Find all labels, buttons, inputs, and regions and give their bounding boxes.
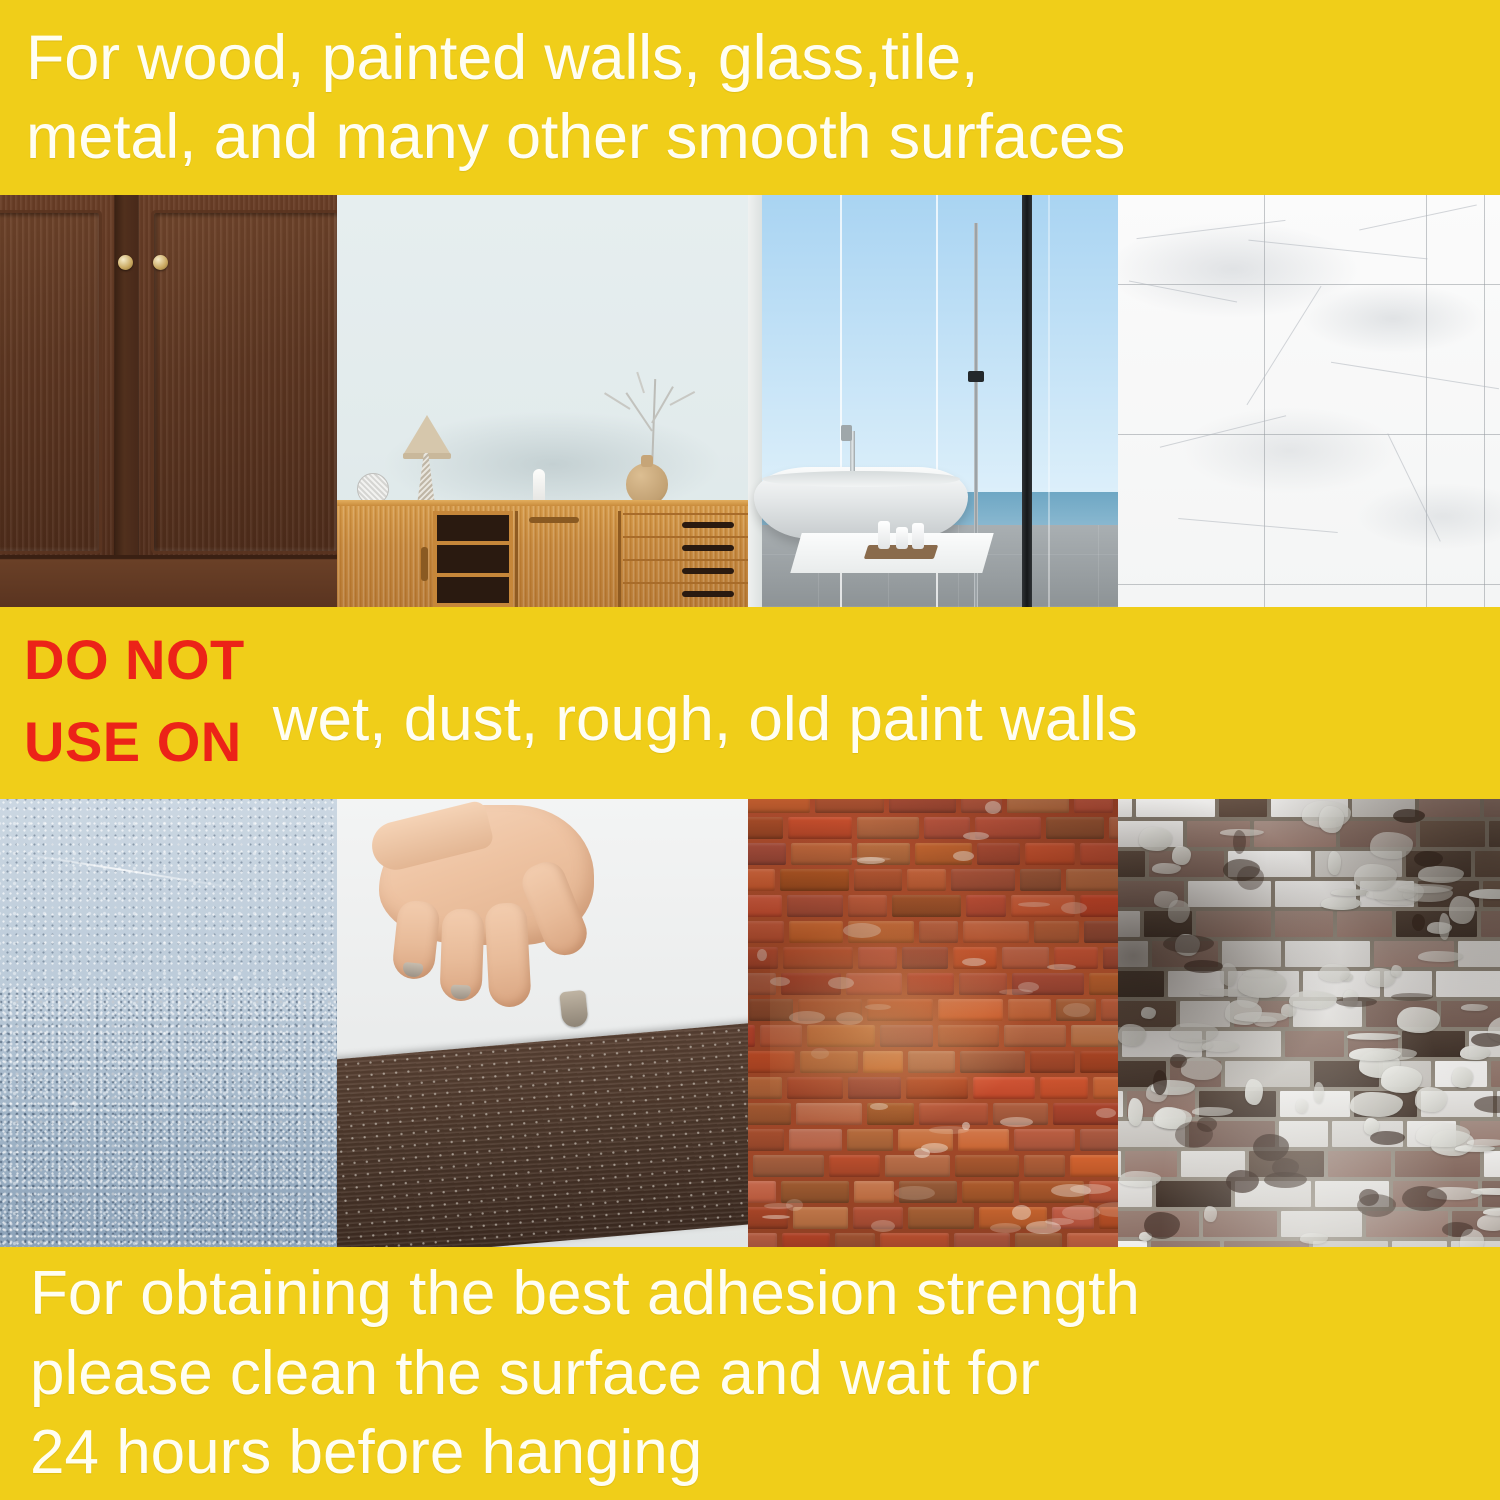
brick: [863, 1051, 903, 1073]
brick: [902, 947, 948, 969]
brick: [748, 799, 810, 813]
brick: [846, 973, 902, 995]
paint-peel-patch: [1477, 1215, 1500, 1231]
brick: [787, 895, 843, 917]
brick: [789, 1129, 842, 1151]
mortar-speck: [1000, 1117, 1033, 1127]
bottle-2: [896, 527, 908, 549]
brick: [793, 1207, 848, 1229]
brick: [1040, 1077, 1088, 1099]
brick: [1089, 973, 1118, 995]
bad-surfaces-strip: [0, 799, 1500, 1247]
brick: [1080, 843, 1118, 865]
brick: [954, 1233, 1010, 1247]
brick: [1030, 1051, 1075, 1073]
mortar-speck: [811, 1048, 829, 1059]
brick-row: [1118, 1151, 1500, 1181]
brick: [1020, 869, 1061, 891]
lamp-shade: [403, 415, 451, 455]
brick: [1395, 1151, 1480, 1177]
mortar-speck: [762, 1215, 790, 1219]
sideboard-drawer-2: [623, 536, 748, 560]
mortar-speck: [850, 857, 891, 861]
brick: [748, 1103, 791, 1125]
paint-peel-patch: [1449, 896, 1475, 924]
brick: [780, 869, 849, 891]
brick: [1481, 911, 1500, 937]
paint-peel-patch: [1397, 1007, 1440, 1033]
mortar-speck: [1012, 1205, 1031, 1220]
sideboard-handle-left: [421, 547, 428, 581]
brick: [919, 921, 958, 943]
brick: [1008, 999, 1051, 1021]
sideboard-shelf-1: [437, 541, 509, 545]
brick: [783, 947, 853, 969]
paint-peel-patch: [1300, 1233, 1328, 1244]
brick: [892, 895, 961, 917]
do-not-use-label: DO NOT USE ON: [18, 630, 245, 777]
paint-peel-patch: [1347, 1033, 1401, 1040]
brick: [1103, 947, 1118, 969]
paint-peel-patch: [1168, 900, 1190, 923]
paint-peel-patch: [1238, 970, 1286, 998]
brick: [753, 1155, 824, 1177]
brick: [1489, 821, 1500, 847]
paint-peel-patch: [1221, 963, 1237, 986]
brick: [1002, 947, 1049, 969]
paint-peel-patch: [1416, 1123, 1470, 1147]
brick: [748, 895, 782, 917]
paint-peel-patch: [1452, 1067, 1473, 1088]
brick: [788, 817, 852, 839]
paint-peel-patch: [1415, 1087, 1447, 1112]
glass-mullion-3: [1048, 195, 1050, 607]
brick-row: [748, 921, 1118, 947]
paint-peel-patch: [1118, 1024, 1146, 1046]
warning-banner: DO NOT USE ON wet, dust, rough, old pain…: [0, 607, 1500, 799]
mortar-speck: [757, 949, 767, 961]
brick: [1014, 1129, 1075, 1151]
brick: [789, 921, 843, 943]
brick: [1118, 971, 1164, 997]
paint-peel-patch: [1289, 991, 1337, 1009]
brick: [1275, 911, 1333, 937]
brick: [1156, 1181, 1231, 1207]
sideboard-drawer-1: [623, 513, 748, 537]
marble-vein-4: [1129, 281, 1237, 303]
side-wall: [748, 195, 762, 607]
brick: [748, 1051, 795, 1073]
brick: [1491, 1061, 1500, 1087]
rough-brick-photo: [748, 799, 1118, 1247]
sky-background: [748, 195, 1118, 492]
wooden-sideboard: [337, 505, 748, 607]
mortar-speck: [914, 1148, 930, 1158]
brick: [966, 895, 1006, 917]
mortar-speck: [953, 851, 974, 861]
mortar-speck: [865, 1004, 891, 1010]
painted-wall-photo: [337, 195, 748, 607]
brick: [958, 1129, 1009, 1151]
brick: [1118, 799, 1132, 817]
cabinet-door-right: [138, 195, 337, 575]
brick: [800, 1051, 858, 1073]
red-brick-rows: [748, 799, 1118, 1247]
brick: [951, 869, 1015, 891]
paint-peel-patch: [1128, 1098, 1143, 1126]
marble-vein-3: [1359, 205, 1477, 231]
brick: [748, 843, 786, 865]
brick: [908, 1207, 974, 1229]
brick: [796, 1103, 862, 1125]
paint-peel-patch: [1370, 832, 1413, 859]
brick: [963, 921, 1029, 943]
brick-row: [748, 1233, 1118, 1247]
brick: [1225, 1061, 1310, 1087]
water-droplets-layer-2: [0, 987, 337, 1247]
wood-cabinet-photo: [0, 195, 337, 607]
paint-peel-patch: [1467, 1139, 1500, 1146]
brick: [748, 869, 775, 891]
brick: [1080, 1129, 1118, 1151]
brick: [867, 999, 933, 1021]
brick: [977, 843, 1020, 865]
brick: [815, 799, 884, 813]
brick: [885, 1155, 950, 1177]
paint-peel-patch: [1460, 1046, 1490, 1060]
sideboard-drawer-4: [623, 582, 748, 606]
glass-door-handle: [968, 371, 984, 382]
brick: [962, 1181, 1014, 1203]
paint-peel-patch: [1418, 866, 1464, 883]
brick: [908, 1051, 955, 1073]
paint-peel-patch: [1119, 1171, 1161, 1187]
brick: [1118, 851, 1145, 877]
marble-vein-5: [1246, 286, 1321, 405]
brick: [1034, 921, 1079, 943]
brick: [1024, 1155, 1065, 1177]
brick: [1046, 817, 1104, 839]
brick: [835, 1233, 875, 1247]
brick: [906, 1077, 968, 1099]
mortar-speck: [963, 832, 989, 840]
fingernail-ring: [450, 985, 470, 1000]
faucet: [850, 431, 855, 471]
brick: [1015, 1233, 1062, 1247]
old-paint-brick-photo: [1118, 799, 1500, 1247]
mortar-speck: [962, 958, 986, 966]
brick-row: [748, 817, 1118, 843]
brick: [807, 1025, 875, 1047]
infographic-page: For wood, painted walls, glass,tile, met…: [0, 0, 1500, 1500]
brick-row: [748, 843, 1118, 869]
bottle-1: [878, 521, 890, 549]
brick-row: [748, 1077, 1118, 1103]
top-banner-line-2: metal, and many other smooth surfaces: [26, 99, 1478, 176]
paint-peel-patch: [1391, 965, 1402, 977]
brick: [960, 1051, 1025, 1073]
paint-peel-patch: [1455, 1145, 1495, 1152]
brick: [1118, 1091, 1123, 1117]
bathtub: [754, 467, 968, 539]
brick: [791, 843, 852, 865]
mortar-speck: [1018, 982, 1039, 992]
brick-row: [748, 1051, 1118, 1077]
window-post: [1022, 195, 1032, 607]
brick: [938, 1025, 999, 1047]
sideboard-divider-1: [515, 511, 518, 607]
mortar-speck: [789, 1011, 825, 1024]
brick: [854, 869, 902, 891]
paint-peel-patch: [1321, 897, 1361, 910]
dusty-fingertip: [559, 990, 589, 1029]
mortar-speck: [985, 801, 1001, 814]
paint-peel-patch: [1349, 1048, 1401, 1061]
cabinet-door-gap: [115, 195, 138, 575]
brick: [1025, 843, 1075, 865]
brick: [1004, 1025, 1066, 1047]
paint-peel-patch: [1296, 1099, 1308, 1113]
mortar-speck: [990, 1223, 1021, 1233]
brick-row: [748, 1025, 1118, 1051]
paint-peel-patch: [1170, 1023, 1218, 1042]
sideboard-top: [337, 500, 748, 506]
brick: [1475, 851, 1500, 877]
mortar-speck: [1061, 902, 1087, 914]
finger-ring: [439, 908, 484, 1001]
brick: [829, 1155, 880, 1177]
glass-bathroom-photo: [748, 195, 1118, 607]
marble-vein-6: [1331, 362, 1499, 390]
marble-vein-9: [1178, 518, 1337, 533]
finger-middle: [484, 902, 531, 1008]
brick-row: [748, 1103, 1118, 1129]
brick: [938, 999, 1003, 1021]
brick: [907, 869, 946, 891]
paint-peel-patch: [1331, 889, 1369, 896]
hand-graphic: [365, 805, 665, 1055]
paint-peel-patch: [1202, 1041, 1239, 1052]
brick: [1093, 1077, 1118, 1099]
top-banner: For wood, painted walls, glass,tile, met…: [0, 0, 1500, 195]
brick: [1109, 817, 1118, 839]
brick: [1328, 1151, 1391, 1177]
mortar-speck: [828, 977, 854, 989]
brick: [880, 1025, 933, 1047]
paint-peel-patch: [1381, 1066, 1422, 1093]
sideboard-handle-middle: [529, 517, 579, 523]
brick: [748, 1025, 755, 1047]
brick: [1458, 941, 1500, 967]
paint-peel-patch: [1245, 1079, 1263, 1105]
paint-peel-patch: [1192, 1107, 1233, 1116]
paint-peel-patch: [1234, 1012, 1288, 1022]
brick: [748, 921, 784, 943]
brick: [1118, 911, 1140, 937]
paint-peel-patch: [1181, 1057, 1222, 1080]
mortar-speck: [764, 1203, 793, 1209]
paint-peel-patch: [1439, 913, 1450, 940]
paint-peel-patch: [1354, 864, 1397, 890]
wet-surface-photo: [0, 799, 337, 1247]
brick-row: [748, 799, 1118, 817]
bottle-3: [912, 523, 924, 549]
brick-row: [748, 1155, 1118, 1181]
mortar-speck: [843, 923, 881, 938]
cabinet-door-left: [0, 195, 115, 575]
brick: [787, 1077, 843, 1099]
paint-peel-patch: [1418, 951, 1463, 962]
marble-vein-7: [1160, 415, 1286, 447]
brick: [1074, 799, 1113, 813]
brick: [782, 1233, 830, 1247]
bad-surfaces-text: wet, dust, rough, old paint walls: [273, 689, 1482, 751]
brick: [748, 1233, 777, 1247]
brick: [1066, 869, 1118, 891]
paint-peel-patch: [1141, 1007, 1156, 1019]
brick: [1084, 921, 1118, 943]
paint-peel-patch: [1350, 1092, 1403, 1117]
brick: [1196, 911, 1271, 937]
brick: [1007, 799, 1069, 813]
brick: [847, 1129, 893, 1151]
paint-peel-patch: [1314, 1082, 1324, 1103]
brick: [1219, 799, 1267, 817]
brick: [1136, 799, 1215, 817]
mortar-speck: [1018, 902, 1050, 907]
sideboard-open-shelves: [433, 511, 513, 607]
bottom-banner: For obtaining the best adhesion strength…: [0, 1247, 1500, 1500]
mortar-speck: [929, 1126, 969, 1134]
brick-row: [748, 973, 1118, 999]
brick: [1071, 1025, 1118, 1047]
finger-pinky: [391, 899, 441, 981]
brick: [1067, 1233, 1118, 1247]
brick: [973, 1077, 1035, 1099]
brick: [889, 799, 956, 813]
paint-peel-patch: [1319, 964, 1350, 982]
brick: [748, 817, 783, 839]
brick: [848, 1077, 901, 1099]
bottom-banner-line-3: 24 hours before hanging: [30, 1413, 1476, 1492]
warning-line-2: USE ON: [24, 712, 245, 772]
brick: [1118, 1151, 1121, 1177]
brick: [1420, 821, 1485, 847]
paint-peel-patch: [1319, 806, 1344, 833]
sideboard-drawer-3: [623, 559, 748, 583]
warning-line-1: DO NOT: [24, 630, 245, 690]
mortar-speck: [894, 1186, 935, 1200]
brick: [955, 1155, 1019, 1177]
marble-vein-2: [1248, 240, 1427, 260]
mortar-speck: [1026, 1221, 1061, 1234]
brick: [1436, 971, 1500, 997]
paint-peel-patch: [1204, 1206, 1217, 1222]
sideboard-shelf-2: [437, 573, 509, 577]
paint-peel-patch: [1461, 1004, 1488, 1011]
brick: [1484, 1151, 1500, 1177]
cabinet-base: [0, 555, 337, 607]
brick: [1337, 911, 1392, 937]
brick: [1419, 799, 1480, 817]
brick: [1101, 999, 1118, 1021]
brick: [1285, 1031, 1344, 1057]
brick: [848, 895, 887, 917]
brick: [854, 1181, 894, 1203]
sideboard-divider-2: [618, 511, 621, 607]
brick: [760, 1025, 802, 1047]
paint-peel-patch: [1172, 846, 1191, 865]
mortar-speck: [1047, 964, 1076, 970]
brick: [857, 817, 919, 839]
cabinet-knob-right-icon: [153, 255, 168, 270]
brick: [1285, 941, 1370, 967]
brick: [749, 999, 793, 1021]
cabinet-knob-left-icon: [118, 255, 133, 270]
brick: [880, 1233, 949, 1247]
brick: [1484, 799, 1500, 817]
brick: [748, 1181, 776, 1203]
dark-brick-blotch: [1471, 1033, 1500, 1047]
top-banner-line-1: For wood, painted walls, glass,tile,: [26, 20, 1478, 97]
brick: [1080, 1051, 1118, 1073]
old-brick-rows: [1118, 799, 1500, 1247]
marble-vein-1: [1136, 220, 1285, 239]
marble-tile-photo: [1118, 195, 1500, 607]
mortar-speck: [870, 1103, 888, 1110]
paint-peel-patch: [1139, 827, 1172, 851]
marble-vein-8: [1387, 433, 1441, 541]
bottom-banner-line-2: please clean the surface and wait for: [30, 1334, 1476, 1413]
brick: [748, 1077, 782, 1099]
dusty-surface-photo: [337, 799, 748, 1247]
bottom-banner-line-1: For obtaining the best adhesion strength: [30, 1254, 1476, 1333]
mortar-speck: [1096, 1108, 1116, 1118]
ceramic-vase: [626, 463, 668, 505]
brick: [919, 1103, 988, 1125]
brick: [858, 947, 897, 969]
paint-peel-patch: [1469, 889, 1500, 899]
brick-row: [748, 869, 1118, 895]
fingernail-pinky: [402, 962, 423, 978]
brick: [1070, 1155, 1118, 1177]
brick: [907, 973, 954, 995]
mortar-speck: [770, 977, 790, 986]
paint-peel-patch: [1152, 863, 1181, 874]
mortar-speck: [1063, 1003, 1090, 1017]
paint-peel-patch: [1328, 851, 1341, 875]
good-surfaces-strip: [0, 195, 1500, 607]
mortar-speck: [871, 1220, 895, 1232]
brick: [748, 1129, 784, 1151]
mortar-speck: [836, 1012, 863, 1025]
mortar-speck: [1070, 1184, 1111, 1194]
brick: [1118, 941, 1148, 967]
